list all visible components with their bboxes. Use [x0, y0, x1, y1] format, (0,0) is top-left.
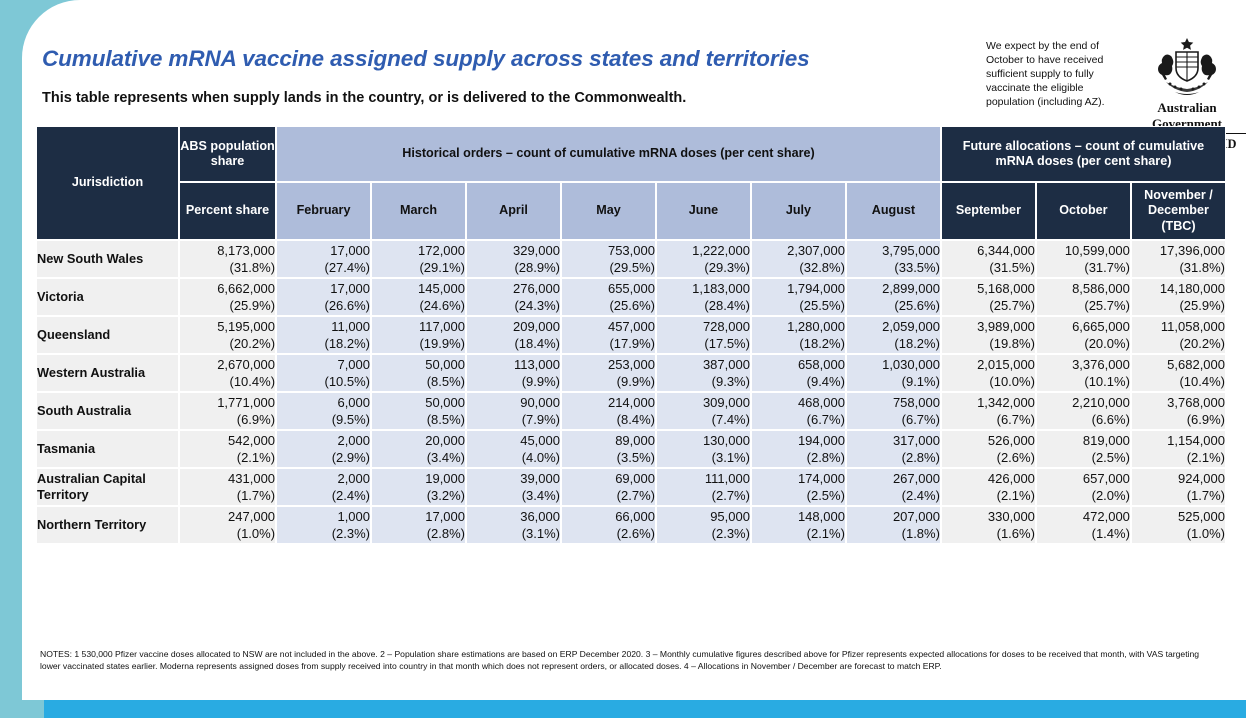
table-cell: 172,000(29.1%) [371, 240, 466, 278]
cell-percent-share: (3.1%) [657, 449, 750, 466]
cell-dose-count: 426,000 [942, 470, 1035, 487]
cell-dose-count: 17,396,000 [1132, 242, 1225, 259]
cell-percent-share: (6.9%) [180, 411, 275, 428]
table-cell: 819,000(2.5%) [1036, 430, 1131, 468]
cell-dose-count: 8,173,000 [180, 242, 275, 259]
table-row: Victoria6,662,000(25.9%)17,000(26.6%)145… [36, 278, 1226, 316]
cell-dose-count: 2,000 [277, 470, 370, 487]
cell-dose-count: 214,000 [562, 394, 655, 411]
row-jurisdiction-label: Northern Territory [36, 506, 179, 544]
table-row: Tasmania542,000(2.1%)2,000(2.9%)20,000(3… [36, 430, 1226, 468]
cell-dose-count: 111,000 [657, 470, 750, 487]
table-cell: 6,662,000(25.9%) [179, 278, 276, 316]
cell-dose-count: 6,344,000 [942, 242, 1035, 259]
table-cell: 3,989,000(19.8%) [941, 316, 1036, 354]
cell-percent-share: (1.0%) [1132, 525, 1225, 542]
page-subtitle: This table represents when supply lands … [42, 90, 686, 106]
cell-percent-share: (24.3%) [467, 297, 560, 314]
table-cell: 309,000(7.4%) [656, 392, 751, 430]
cell-dose-count: 3,768,000 [1132, 394, 1225, 411]
cell-percent-share: (1.7%) [180, 487, 275, 504]
table-cell: 39,000(3.4%) [466, 468, 561, 506]
cell-percent-share: (6.7%) [847, 411, 940, 428]
header-percent-share: Percent share [179, 182, 276, 240]
table-cell: 14,180,000(25.9%) [1131, 278, 1226, 316]
table-cell: 7,000(10.5%) [276, 354, 371, 392]
table-cell: 207,000(1.8%) [846, 506, 941, 544]
cell-percent-share: (6.7%) [752, 411, 845, 428]
supply-table: Jurisdiction ABS population share Histor… [36, 126, 1226, 544]
cell-percent-share: (31.7%) [1037, 259, 1130, 276]
table-cell: 1,771,000(6.9%) [179, 392, 276, 430]
cell-percent-share: (9.9%) [467, 373, 560, 390]
table-cell: 468,000(6.7%) [751, 392, 846, 430]
cell-dose-count: 1,342,000 [942, 394, 1035, 411]
cell-dose-count: 2,307,000 [752, 242, 845, 259]
cell-dose-count: 276,000 [467, 280, 560, 297]
cell-dose-count: 117,000 [372, 318, 465, 335]
table-cell: 276,000(24.3%) [466, 278, 561, 316]
cell-percent-share: (8.5%) [372, 411, 465, 428]
table-cell: 457,000(17.9%) [561, 316, 656, 354]
cell-dose-count: 6,000 [277, 394, 370, 411]
header-group-historical-orders: Historical orders – count of cumulative … [276, 126, 941, 182]
header-group-future-allocations: Future allocations – count of cumulative… [941, 126, 1226, 182]
cell-dose-count: 1,280,000 [752, 318, 845, 335]
cell-percent-share: (25.9%) [180, 297, 275, 314]
cell-percent-share: (10.0%) [942, 373, 1035, 390]
cell-percent-share: (19.8%) [942, 335, 1035, 352]
cell-dose-count: 753,000 [562, 242, 655, 259]
table-row: South Australia1,771,000(6.9%)6,000(9.5%… [36, 392, 1226, 430]
table-cell: 11,058,000(20.2%) [1131, 316, 1226, 354]
cell-percent-share: (3.4%) [467, 487, 560, 504]
table-cell: 17,000(2.8%) [371, 506, 466, 544]
table-cell: 1,183,000(28.4%) [656, 278, 751, 316]
cell-dose-count: 17,000 [372, 508, 465, 525]
table-cell: 194,000(2.8%) [751, 430, 846, 468]
cell-dose-count: 267,000 [847, 470, 940, 487]
table-cell: 145,000(24.6%) [371, 278, 466, 316]
cell-percent-share: (31.8%) [180, 259, 275, 276]
cell-dose-count: 36,000 [467, 508, 560, 525]
cell-percent-share: (10.4%) [1132, 373, 1225, 390]
cell-dose-count: 39,000 [467, 470, 560, 487]
expectation-note: We expect by the end of October to have … [986, 36, 1118, 110]
cell-percent-share: (10.5%) [277, 373, 370, 390]
table-cell: 113,000(9.9%) [466, 354, 561, 392]
table-cell: 657,000(2.0%) [1036, 468, 1131, 506]
table-row: New South Wales8,173,000(31.8%)17,000(27… [36, 240, 1226, 278]
cell-dose-count: 6,662,000 [180, 280, 275, 297]
cell-percent-share: (2.1%) [180, 449, 275, 466]
table-cell: 758,000(6.7%) [846, 392, 941, 430]
header-june: June [656, 182, 751, 240]
cell-percent-share: (6.9%) [1132, 411, 1225, 428]
table-cell: 130,000(3.1%) [656, 430, 751, 468]
cell-percent-share: (31.5%) [942, 259, 1035, 276]
cell-dose-count: 174,000 [752, 470, 845, 487]
table-cell: 2,000(2.9%) [276, 430, 371, 468]
cell-dose-count: 468,000 [752, 394, 845, 411]
header-july: July [751, 182, 846, 240]
cell-dose-count: 19,000 [372, 470, 465, 487]
cell-percent-share: (6.6%) [1037, 411, 1130, 428]
cell-percent-share: (2.1%) [1132, 449, 1225, 466]
cell-dose-count: 148,000 [752, 508, 845, 525]
cell-dose-count: 329,000 [467, 242, 560, 259]
cell-percent-share: (2.1%) [752, 525, 845, 542]
cell-dose-count: 69,000 [562, 470, 655, 487]
cell-dose-count: 5,195,000 [180, 318, 275, 335]
table-cell: 20,000(3.4%) [371, 430, 466, 468]
table-row: Western Australia2,670,000(10.4%)7,000(1… [36, 354, 1226, 392]
cell-dose-count: 5,682,000 [1132, 356, 1225, 373]
cell-percent-share: (18.2%) [847, 335, 940, 352]
table-cell: 1,794,000(25.5%) [751, 278, 846, 316]
cell-dose-count: 95,000 [657, 508, 750, 525]
cell-percent-share: (29.1%) [372, 259, 465, 276]
cell-dose-count: 758,000 [847, 394, 940, 411]
cell-dose-count: 1,000 [277, 508, 370, 525]
header-may: May [561, 182, 656, 240]
cell-percent-share: (6.7%) [942, 411, 1035, 428]
cell-percent-share: (4.0%) [467, 449, 560, 466]
table-cell: 431,000(1.7%) [179, 468, 276, 506]
table-cell: 174,000(2.5%) [751, 468, 846, 506]
cell-dose-count: 2,210,000 [1037, 394, 1130, 411]
cell-percent-share: (32.8%) [752, 259, 845, 276]
cell-dose-count: 3,989,000 [942, 318, 1035, 335]
bottom-accent-strip [44, 700, 1246, 718]
cell-percent-share: (1.6%) [942, 525, 1035, 542]
cell-percent-share: (26.6%) [277, 297, 370, 314]
table-cell: 2,015,000(10.0%) [941, 354, 1036, 392]
table-cell: 253,000(9.9%) [561, 354, 656, 392]
table-row: Queensland5,195,000(20.2%)11,000(18.2%)1… [36, 316, 1226, 354]
table-cell: 17,000(27.4%) [276, 240, 371, 278]
table-cell: 1,000(2.3%) [276, 506, 371, 544]
table-cell: 526,000(2.6%) [941, 430, 1036, 468]
cell-percent-share: (18.2%) [277, 335, 370, 352]
row-jurisdiction-label: Victoria [36, 278, 179, 316]
cell-percent-share: (17.5%) [657, 335, 750, 352]
slide-canvas: Cumulative mRNA vaccine assigned supply … [0, 0, 1246, 718]
cell-dose-count: 1,154,000 [1132, 432, 1225, 449]
cell-percent-share: (24.6%) [372, 297, 465, 314]
cell-percent-share: (2.4%) [277, 487, 370, 504]
cell-dose-count: 6,665,000 [1037, 318, 1130, 335]
cell-dose-count: 657,000 [1037, 470, 1130, 487]
cell-percent-share: (3.4%) [372, 449, 465, 466]
cell-dose-count: 525,000 [1132, 508, 1225, 525]
cell-dose-count: 2,000 [277, 432, 370, 449]
cell-percent-share: (2.3%) [277, 525, 370, 542]
cell-dose-count: 542,000 [180, 432, 275, 449]
cell-percent-share: (25.7%) [942, 297, 1035, 314]
table-cell: 2,210,000(6.6%) [1036, 392, 1131, 430]
column-header-row: Percent share February March April May J… [36, 182, 1226, 240]
table-cell: 148,000(2.1%) [751, 506, 846, 544]
cell-percent-share: (7.9%) [467, 411, 560, 428]
cell-percent-share: (10.4%) [180, 373, 275, 390]
table-cell: 924,000(1.7%) [1131, 468, 1226, 506]
cell-percent-share: (2.8%) [372, 525, 465, 542]
cell-dose-count: 50,000 [372, 394, 465, 411]
cell-percent-share: (25.6%) [847, 297, 940, 314]
cell-dose-count: 14,180,000 [1132, 280, 1225, 297]
cell-dose-count: 2,015,000 [942, 356, 1035, 373]
page-title: Cumulative mRNA vaccine assigned supply … [42, 46, 810, 72]
table-cell: 6,665,000(20.0%) [1036, 316, 1131, 354]
cell-dose-count: 387,000 [657, 356, 750, 373]
cell-dose-count: 7,000 [277, 356, 370, 373]
cell-percent-share: (3.1%) [467, 525, 560, 542]
cell-percent-share: (20.2%) [1132, 335, 1225, 352]
header-jurisdiction: Jurisdiction [36, 126, 179, 240]
table-cell: 1,222,000(29.3%) [656, 240, 751, 278]
cell-percent-share: (3.2%) [372, 487, 465, 504]
table-cell: 2,670,000(10.4%) [179, 354, 276, 392]
cell-percent-share: (2.3%) [657, 525, 750, 542]
cell-dose-count: 11,000 [277, 318, 370, 335]
cell-dose-count: 172,000 [372, 242, 465, 259]
cell-dose-count: 50,000 [372, 356, 465, 373]
cell-dose-count: 66,000 [562, 508, 655, 525]
table-cell: 426,000(2.1%) [941, 468, 1036, 506]
cell-percent-share: (8.5%) [372, 373, 465, 390]
cell-dose-count: 207,000 [847, 508, 940, 525]
row-jurisdiction-label: South Australia [36, 392, 179, 430]
cell-dose-count: 728,000 [657, 318, 750, 335]
header-october: October [1036, 182, 1131, 240]
table-cell: 6,000(9.5%) [276, 392, 371, 430]
cell-percent-share: (1.0%) [180, 525, 275, 542]
table-cell: 11,000(18.2%) [276, 316, 371, 354]
table-cell: 69,000(2.7%) [561, 468, 656, 506]
table-cell: 8,173,000(31.8%) [179, 240, 276, 278]
table-cell: 36,000(3.1%) [466, 506, 561, 544]
cell-percent-share: (3.5%) [562, 449, 655, 466]
cell-dose-count: 1,222,000 [657, 242, 750, 259]
row-jurisdiction-label: New South Wales [36, 240, 179, 278]
cell-percent-share: (20.2%) [180, 335, 275, 352]
cell-dose-count: 145,000 [372, 280, 465, 297]
table-head: Jurisdiction ABS population share Histor… [36, 126, 1226, 240]
header-group-abs-population-share: ABS population share [179, 126, 276, 182]
cell-dose-count: 3,795,000 [847, 242, 940, 259]
cell-percent-share: (17.9%) [562, 335, 655, 352]
table-cell: 214,000(8.4%) [561, 392, 656, 430]
table-cell: 3,795,000(33.5%) [846, 240, 941, 278]
table-cell: 17,000(26.6%) [276, 278, 371, 316]
cell-dose-count: 90,000 [467, 394, 560, 411]
cell-dose-count: 130,000 [657, 432, 750, 449]
cell-dose-count: 194,000 [752, 432, 845, 449]
table-cell: 1,154,000(2.1%) [1131, 430, 1226, 468]
table-cell: 267,000(2.4%) [846, 468, 941, 506]
cell-dose-count: 526,000 [942, 432, 1035, 449]
table-cell: 10,599,000(31.7%) [1036, 240, 1131, 278]
cell-dose-count: 1,030,000 [847, 356, 940, 373]
cell-dose-count: 2,059,000 [847, 318, 940, 335]
row-jurisdiction-label: Tasmania [36, 430, 179, 468]
table-cell: 45,000(4.0%) [466, 430, 561, 468]
header-september: September [941, 182, 1036, 240]
table-cell: 1,280,000(18.2%) [751, 316, 846, 354]
cell-dose-count: 89,000 [562, 432, 655, 449]
cell-percent-share: (25.7%) [1037, 297, 1130, 314]
table-cell: 19,000(3.2%) [371, 468, 466, 506]
table-cell: 90,000(7.9%) [466, 392, 561, 430]
table-cell: 66,000(2.6%) [561, 506, 656, 544]
cell-percent-share: (2.6%) [562, 525, 655, 542]
group-header-row: Jurisdiction ABS population share Histor… [36, 126, 1226, 182]
cell-dose-count: 330,000 [942, 508, 1035, 525]
table-cell: 3,376,000(10.1%) [1036, 354, 1131, 392]
cell-dose-count: 1,183,000 [657, 280, 750, 297]
cell-percent-share: (8.4%) [562, 411, 655, 428]
cell-percent-share: (2.9%) [277, 449, 370, 466]
cell-dose-count: 1,794,000 [752, 280, 845, 297]
table-cell: 525,000(1.0%) [1131, 506, 1226, 544]
table-cell: 728,000(17.5%) [656, 316, 751, 354]
row-jurisdiction-label: Western Australia [36, 354, 179, 392]
cell-dose-count: 658,000 [752, 356, 845, 373]
cell-percent-share: (29.5%) [562, 259, 655, 276]
cell-percent-share: (7.4%) [657, 411, 750, 428]
cell-percent-share: (9.4%) [752, 373, 845, 390]
table-row: Australian Capital Territory431,000(1.7%… [36, 468, 1226, 506]
cell-percent-share: (2.7%) [562, 487, 655, 504]
table-cell: 2,899,000(25.6%) [846, 278, 941, 316]
cell-dose-count: 209,000 [467, 318, 560, 335]
cell-percent-share: (27.4%) [277, 259, 370, 276]
cell-dose-count: 3,376,000 [1037, 356, 1130, 373]
table-cell: 6,344,000(31.5%) [941, 240, 1036, 278]
table-cell: 5,168,000(25.7%) [941, 278, 1036, 316]
cell-percent-share: (2.0%) [1037, 487, 1130, 504]
cell-dose-count: 2,899,000 [847, 280, 940, 297]
table-cell: 2,000(2.4%) [276, 468, 371, 506]
cell-percent-share: (9.1%) [847, 373, 940, 390]
table-cell: 89,000(3.5%) [561, 430, 656, 468]
header-august: August [846, 182, 941, 240]
table-cell: 472,000(1.4%) [1036, 506, 1131, 544]
table-cell: 387,000(9.3%) [656, 354, 751, 392]
cell-percent-share: (2.8%) [752, 449, 845, 466]
table-cell: 50,000(8.5%) [371, 392, 466, 430]
cell-percent-share: (1.8%) [847, 525, 940, 542]
cell-percent-share: (10.1%) [1037, 373, 1130, 390]
cell-percent-share: (18.2%) [752, 335, 845, 352]
cell-percent-share: (25.9%) [1132, 297, 1225, 314]
cell-dose-count: 17,000 [277, 242, 370, 259]
cell-dose-count: 1,771,000 [180, 394, 275, 411]
cell-dose-count: 253,000 [562, 356, 655, 373]
table-cell: 317,000(2.8%) [846, 430, 941, 468]
cell-percent-share: (25.6%) [562, 297, 655, 314]
cell-dose-count: 317,000 [847, 432, 940, 449]
cell-dose-count: 8,586,000 [1037, 280, 1130, 297]
cell-dose-count: 113,000 [467, 356, 560, 373]
table-cell: 247,000(1.0%) [179, 506, 276, 544]
table-cell: 658,000(9.4%) [751, 354, 846, 392]
table-cell: 5,682,000(10.4%) [1131, 354, 1226, 392]
cell-dose-count: 819,000 [1037, 432, 1130, 449]
table-cell: 17,396,000(31.8%) [1131, 240, 1226, 278]
cell-percent-share: (19.9%) [372, 335, 465, 352]
cell-percent-share: (28.9%) [467, 259, 560, 276]
cell-percent-share: (20.0%) [1037, 335, 1130, 352]
cell-percent-share: (28.4%) [657, 297, 750, 314]
cell-dose-count: 924,000 [1132, 470, 1225, 487]
table-cell: 8,586,000(25.7%) [1036, 278, 1131, 316]
cell-dose-count: 457,000 [562, 318, 655, 335]
header-march: March [371, 182, 466, 240]
table-cell: 1,030,000(9.1%) [846, 354, 941, 392]
cell-dose-count: 2,670,000 [180, 356, 275, 373]
table-cell: 2,059,000(18.2%) [846, 316, 941, 354]
cell-dose-count: 45,000 [467, 432, 560, 449]
cell-percent-share: (9.3%) [657, 373, 750, 390]
table-footnotes: NOTES: 1 530,000 Pfizer vaccine doses al… [40, 648, 1210, 672]
cell-dose-count: 431,000 [180, 470, 275, 487]
cell-dose-count: 11,058,000 [1132, 318, 1225, 335]
table-cell: 2,307,000(32.8%) [751, 240, 846, 278]
table-cell: 111,000(2.7%) [656, 468, 751, 506]
cell-percent-share: (2.8%) [847, 449, 940, 466]
cell-dose-count: 655,000 [562, 280, 655, 297]
row-jurisdiction-label: Australian Capital Territory [36, 468, 179, 506]
table-cell: 542,000(2.1%) [179, 430, 276, 468]
cell-percent-share: (9.5%) [277, 411, 370, 428]
table-cell: 1,342,000(6.7%) [941, 392, 1036, 430]
cell-dose-count: 247,000 [180, 508, 275, 525]
cell-percent-share: (1.4%) [1037, 525, 1130, 542]
slide-card: Cumulative mRNA vaccine assigned supply … [22, 0, 1246, 700]
cell-percent-share: (2.7%) [657, 487, 750, 504]
table-cell: 330,000(1.6%) [941, 506, 1036, 544]
header-april: April [466, 182, 561, 240]
table-row: Northern Territory247,000(1.0%)1,000(2.3… [36, 506, 1226, 544]
cell-percent-share: (9.9%) [562, 373, 655, 390]
table-cell: 95,000(2.3%) [656, 506, 751, 544]
cell-dose-count: 10,599,000 [1037, 242, 1130, 259]
cell-percent-share: (31.8%) [1132, 259, 1225, 276]
table-cell: 50,000(8.5%) [371, 354, 466, 392]
cell-dose-count: 5,168,000 [942, 280, 1035, 297]
cell-dose-count: 20,000 [372, 432, 465, 449]
cell-percent-share: (2.5%) [752, 487, 845, 504]
cell-percent-share: (25.5%) [752, 297, 845, 314]
cell-percent-share: (2.4%) [847, 487, 940, 504]
header-november-december-tbc: November / December (TBC) [1131, 182, 1226, 240]
cell-percent-share: (29.3%) [657, 259, 750, 276]
cell-percent-share: (33.5%) [847, 259, 940, 276]
cell-percent-share: (18.4%) [467, 335, 560, 352]
table-cell: 117,000(19.9%) [371, 316, 466, 354]
table-cell: 209,000(18.4%) [466, 316, 561, 354]
table-cell: 753,000(29.5%) [561, 240, 656, 278]
cell-dose-count: 309,000 [657, 394, 750, 411]
table-cell: 3,768,000(6.9%) [1131, 392, 1226, 430]
row-jurisdiction-label: Queensland [36, 316, 179, 354]
cell-dose-count: 17,000 [277, 280, 370, 297]
cell-dose-count: 472,000 [1037, 508, 1130, 525]
cell-percent-share: (2.1%) [942, 487, 1035, 504]
header-february: February [276, 182, 371, 240]
